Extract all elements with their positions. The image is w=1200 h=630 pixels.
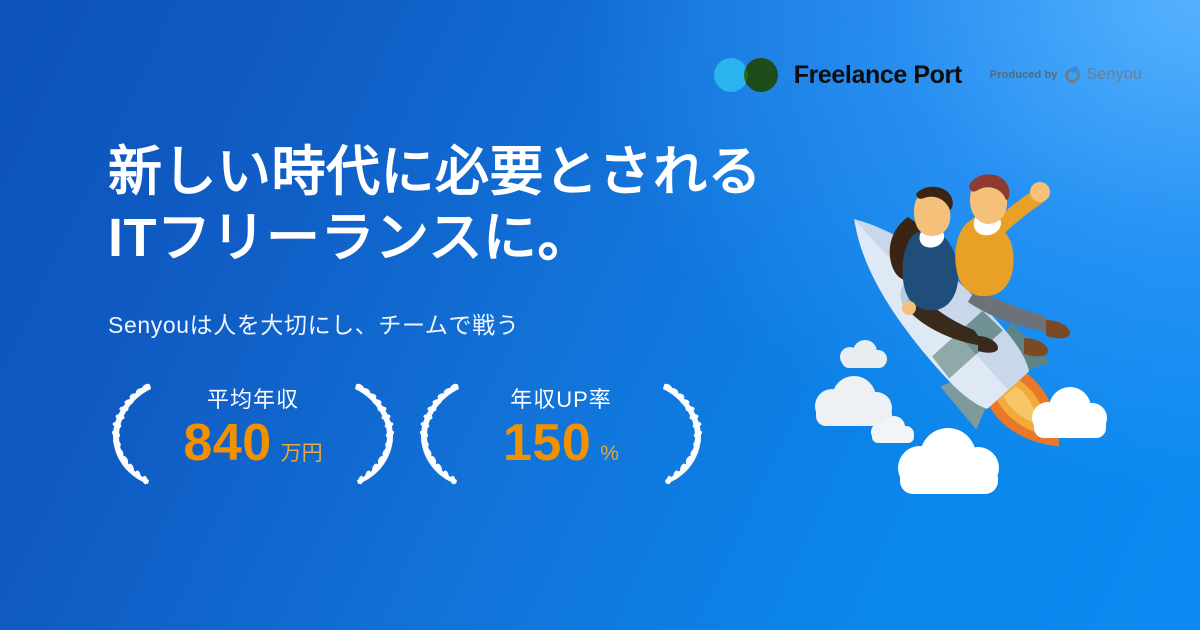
laurel-wreath-icon (350, 380, 398, 488)
man-shoe-front (1046, 320, 1070, 338)
man-fist (1030, 182, 1050, 202)
rocket-scene-svg (772, 150, 1172, 520)
headline-line-1: 新しい時代に必要とされる (108, 142, 762, 202)
hero-subheadline: Senyouは人を大切にし、チームで戦う (108, 306, 788, 340)
stat-unit: % (600, 442, 619, 466)
senyou-ring-icon (1065, 68, 1080, 83)
stat-number: 840 (183, 416, 271, 471)
stat-card-average-income: 平均年収 840 万円 (108, 378, 398, 490)
logo-circle-cyan (714, 58, 748, 92)
cloud-icon (840, 340, 887, 368)
woman-hand (902, 301, 916, 315)
brand-name: Freelance Port (794, 61, 962, 90)
stat-number: 150 (503, 416, 591, 471)
laurel-wreath-icon (658, 380, 706, 488)
stat-unit: 万円 (281, 437, 323, 467)
stat-content: 平均年収 840 万円 (162, 382, 344, 490)
headline-line-2: ITフリーランスに。 (108, 206, 788, 272)
logo-circle-orange (744, 58, 778, 92)
stat-value-row: 840 万円 (183, 416, 322, 471)
stat-value-row: 150 % (503, 416, 619, 471)
two-overlapping-circles-icon (714, 58, 778, 92)
laurel-wreath-icon (108, 380, 156, 488)
man-shoe-back (1024, 338, 1048, 356)
page-title: 新しい時代に必要とされる ITフリーランスに。 (108, 140, 788, 272)
produced-by-group: Produced by Senyou (990, 66, 1142, 84)
hero-copy: 新しい時代に必要とされる ITフリーランスに。 Senyouは人を大切にし、チー… (108, 140, 788, 340)
hero-banner: Freelance Port Produced by Senyou 新しい時代に… (0, 0, 1200, 630)
stat-card-income-up-rate: 年収UP率 150 % (416, 378, 706, 490)
stats-group: 平均年収 840 万円 (108, 378, 706, 490)
two-people-riding-rocket-illustration (772, 150, 1172, 520)
stat-label: 年収UP率 (510, 382, 612, 414)
stat-label: 平均年収 (207, 382, 299, 414)
producer-name: Senyou (1087, 66, 1142, 84)
stat-content: 年収UP率 150 % (470, 382, 652, 490)
cloud-icon (815, 376, 892, 426)
brand-logo-bar[interactable]: Freelance Port Produced by Senyou (714, 58, 1142, 92)
laurel-wreath-icon (416, 380, 464, 488)
produced-by-label: Produced by (990, 69, 1058, 81)
